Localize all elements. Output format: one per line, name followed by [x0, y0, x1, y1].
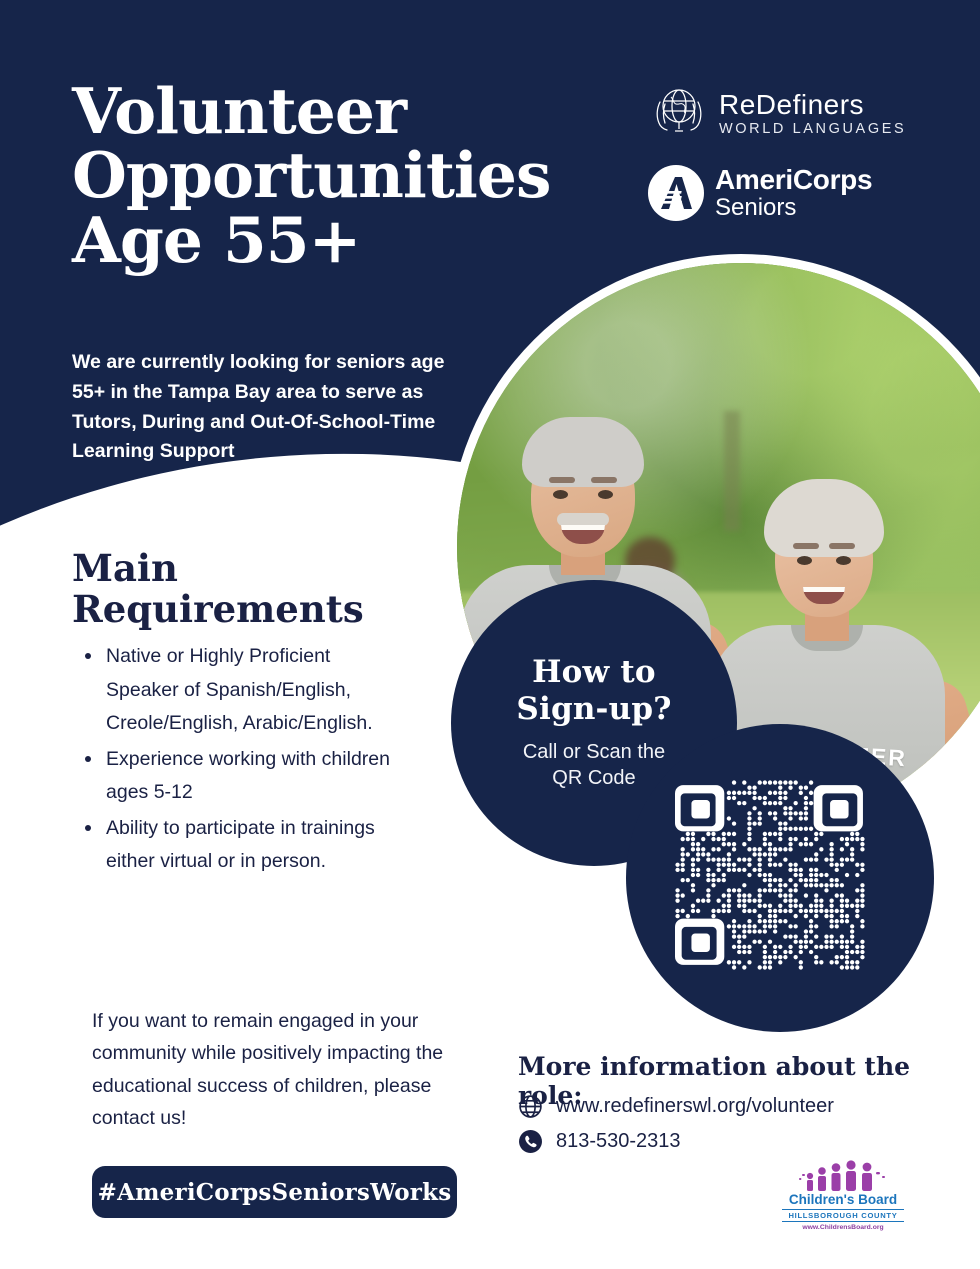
americorps-name: AmeriCorps — [715, 166, 872, 195]
requirements-heading-line-2: Requirements — [72, 589, 402, 630]
children-figures-icon — [782, 1158, 904, 1192]
intro-paragraph: We are currently looking for seniors age… — [72, 348, 452, 467]
childrens-board-name: Children's Board — [782, 1193, 904, 1208]
redefiners-logo: ReDefiners WORLD LANGUAGES — [648, 82, 948, 145]
childrens-board-url: www.ChildrensBoard.org — [782, 1224, 904, 1231]
list-item: Ability to participate in trainings eith… — [78, 812, 408, 879]
woman-head — [775, 499, 873, 617]
globe-icon — [518, 1094, 543, 1119]
list-item: Native or Highly Proficient Speaker of S… — [78, 640, 408, 741]
redefiners-subtitle: WORLD LANGUAGES — [719, 122, 906, 137]
childrens-board-county: HILLSBOROUGH COUNTY — [782, 1209, 904, 1222]
americorps-a-icon — [648, 165, 704, 221]
woman-smile — [803, 587, 845, 604]
senior-man: VOLUNTEER — [531, 433, 635, 557]
closing-paragraph: If you want to remain engaged in your co… — [92, 1005, 477, 1134]
globe-in-hands-icon — [648, 82, 710, 145]
phone-number[interactable]: 813-530-2313 — [556, 1130, 681, 1153]
signup-title-line-1: How to — [516, 654, 671, 691]
list-item: Experience working with children ages 5-… — [78, 743, 408, 810]
senior-woman: VOLUNTEER — [775, 499, 873, 617]
contact-info: www.redefinerswl.org/volunteer 813-530-2… — [518, 1094, 938, 1164]
page-title: Volunteer Opportunities Age 55+ — [72, 79, 632, 272]
requirements-list: Native or Highly Proficient Speaker of S… — [78, 640, 408, 881]
volunteer-flyer: VOLUNTEER VOLUNTEER — [0, 0, 980, 1269]
americorps-subtitle: Seniors — [715, 196, 872, 220]
signup-subtitle-line-2: QR Code — [523, 766, 665, 792]
man-head — [531, 433, 635, 557]
signup-title-line-2: Sign-up? — [516, 691, 671, 728]
hashtag-label: #AmeriCorpsSeniorsWorks — [98, 1179, 452, 1206]
phone-icon — [518, 1129, 543, 1154]
requirements-heading: Main Requirements — [72, 548, 402, 631]
tree-trunk — [724, 411, 740, 531]
signup-title: How to Sign-up? — [516, 654, 671, 727]
requirements-heading-line-1: Main — [72, 548, 402, 589]
redefiners-name: ReDefiners — [719, 91, 906, 119]
man-smile — [561, 525, 605, 544]
signup-subtitle: Call or Scan the QR Code — [523, 740, 665, 791]
americorps-logo: AmeriCorps Seniors — [648, 165, 948, 221]
headline-line-2: Opportunities — [72, 143, 632, 207]
website-link[interactable]: www.redefinerswl.org/volunteer — [556, 1095, 834, 1118]
hashtag-badge: #AmeriCorpsSeniorsWorks — [92, 1166, 457, 1218]
qr-code[interactable] — [675, 780, 865, 970]
logo-group: ReDefiners WORLD LANGUAGES AmeriCorps Se… — [648, 82, 948, 221]
phone-row[interactable]: 813-530-2313 — [518, 1129, 938, 1154]
headline-line-3: Age 55+ — [72, 208, 632, 272]
man-hair — [522, 417, 644, 487]
website-row[interactable]: www.redefinerswl.org/volunteer — [518, 1094, 938, 1119]
headline-line-1: Volunteer — [72, 79, 632, 143]
signup-subtitle-line-1: Call or Scan the — [523, 740, 665, 766]
childrens-board-logo: Children's Board HILLSBOROUGH COUNTY www… — [782, 1158, 904, 1231]
